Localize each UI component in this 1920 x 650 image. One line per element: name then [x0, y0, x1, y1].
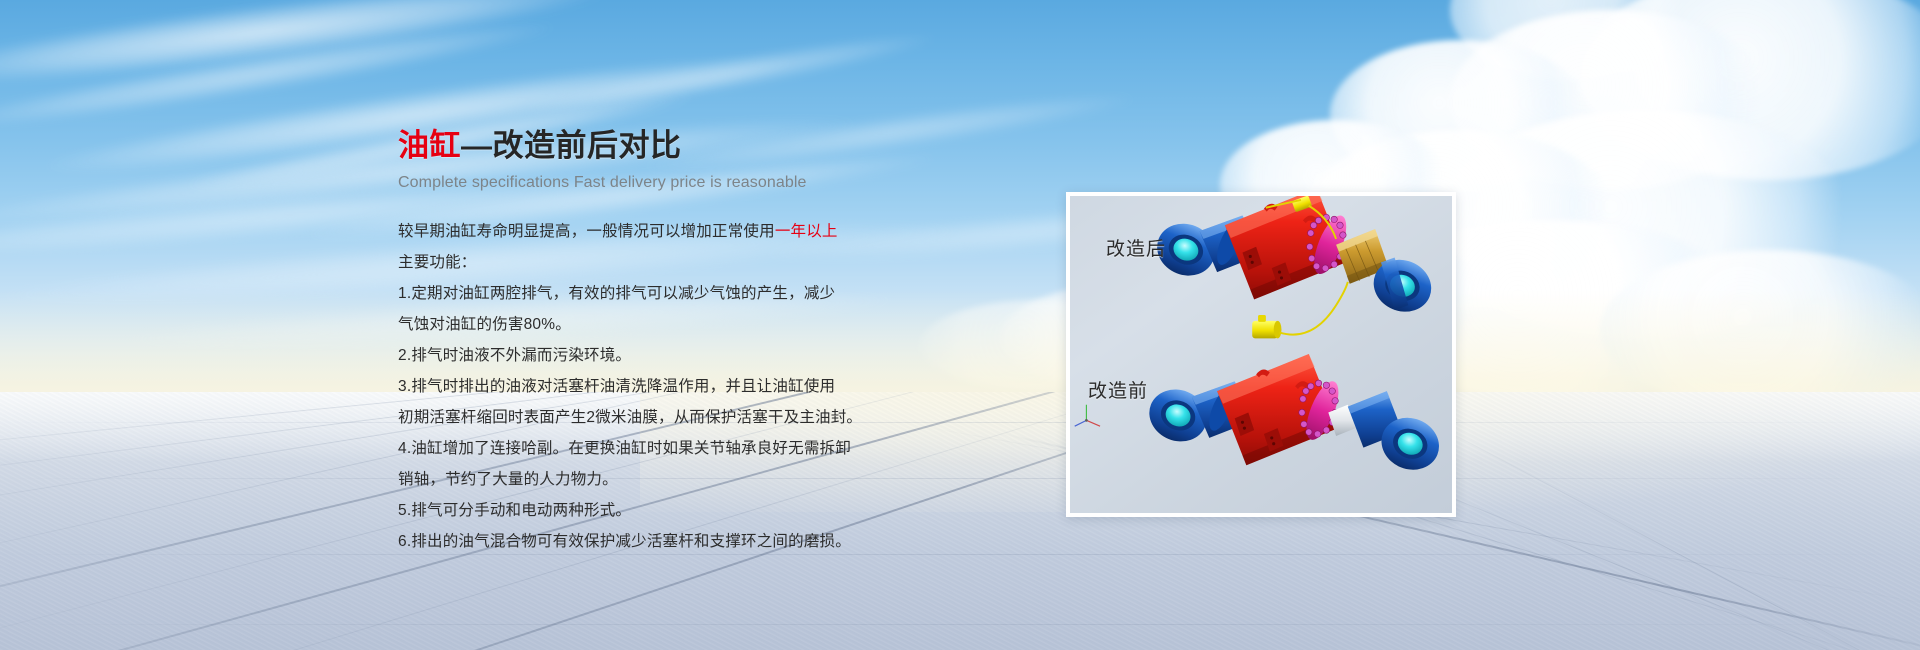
feature-line-text: 6.排出的油气混合物可有效保护减少活塞杆和支撑环之间的磨损。	[398, 533, 851, 550]
feature-line: 气蚀对油缸的伤害80%。	[398, 309, 958, 340]
feature-line: 销轴，节约了大量的人力物力。	[398, 464, 958, 495]
feature-line-text: 4.油缸增加了连接哈副。在更换油缸时如果关节轴承良好无需拆卸	[398, 440, 851, 457]
feature-line-text: 2.排气时油液不外漏而污染环境。	[398, 347, 631, 364]
product-image-panel[interactable]: 改造后 改造前	[1066, 192, 1456, 517]
hero-banner: 油缸—改造前后对比 Complete specifications Fast d…	[0, 0, 1920, 650]
title-highlight: 油缸	[398, 128, 461, 163]
pavement-texture	[0, 392, 1920, 650]
page-title: 油缸—改造前后对比	[398, 128, 958, 165]
feature-line-text: 气蚀对油缸的伤害80%。	[398, 316, 571, 333]
page-subtitle: Complete specifications Fast delivery pr…	[398, 174, 958, 192]
feature-line-text: 销轴，节约了大量的人力物力。	[398, 471, 618, 488]
cylinder-after	[1149, 196, 1439, 338]
feature-line: 6.排出的油气混合物可有效保护减少活塞杆和支撑环之间的磨损。	[398, 526, 958, 557]
title-rest: —改造前后对比	[461, 128, 682, 163]
feature-line: 4.油缸增加了连接哈副。在更换油缸时如果关节轴承良好无需拆卸	[398, 433, 958, 464]
feature-line-highlight: 一年以上	[775, 223, 838, 240]
feature-line: 1.定期对油缸两腔排气，有效的排气可以减少气蚀的产生，减少	[398, 278, 958, 309]
feature-line-text: 3.排气时排出的油液对活塞杆油清洗降温作用，并且让油缸使用	[398, 378, 835, 395]
cylinder-before	[1141, 354, 1446, 478]
label-after-modification: 改造后	[1106, 234, 1166, 261]
feature-line-text: 初期活塞杆缩回时表面产生2微米油膜，从而保护活塞干及主油封。	[398, 409, 862, 426]
pavement-background	[0, 392, 1920, 650]
label-before-modification: 改造前	[1088, 376, 1148, 403]
banner-copy: 油缸—改造前后对比 Complete specifications Fast d…	[398, 128, 958, 557]
feature-line: 3.排气时排出的油液对活塞杆油清洗降温作用，并且让油缸使用	[398, 371, 958, 402]
sky-background	[0, 0, 1920, 440]
feature-line: 初期活塞杆缩回时表面产生2微米油膜，从而保护活塞干及主油封。	[398, 402, 958, 433]
feature-line: 主要功能：	[398, 247, 958, 278]
feature-list: 较早期油缸寿命明显提高，一般情况可以增加正常使用一年以上主要功能：1.定期对油缸…	[398, 216, 958, 557]
feature-line-text: 较早期油缸寿命明显提高，一般情况可以增加正常使用	[398, 223, 775, 240]
feature-line: 较早期油缸寿命明显提高，一般情况可以增加正常使用一年以上	[398, 216, 958, 247]
feature-line-text: 主要功能：	[398, 254, 477, 271]
feature-line: 5.排气可分手动和电动两种形式。	[398, 495, 958, 526]
axis-triad-icon	[1075, 405, 1100, 426]
feature-line-text: 5.排气可分手动和电动两种形式。	[398, 502, 631, 519]
feature-line-text: 1.定期对油缸两腔排气，有效的排气可以减少气蚀的产生，减少	[398, 285, 835, 302]
feature-line: 2.排气时油液不外漏而污染环境。	[398, 340, 958, 371]
